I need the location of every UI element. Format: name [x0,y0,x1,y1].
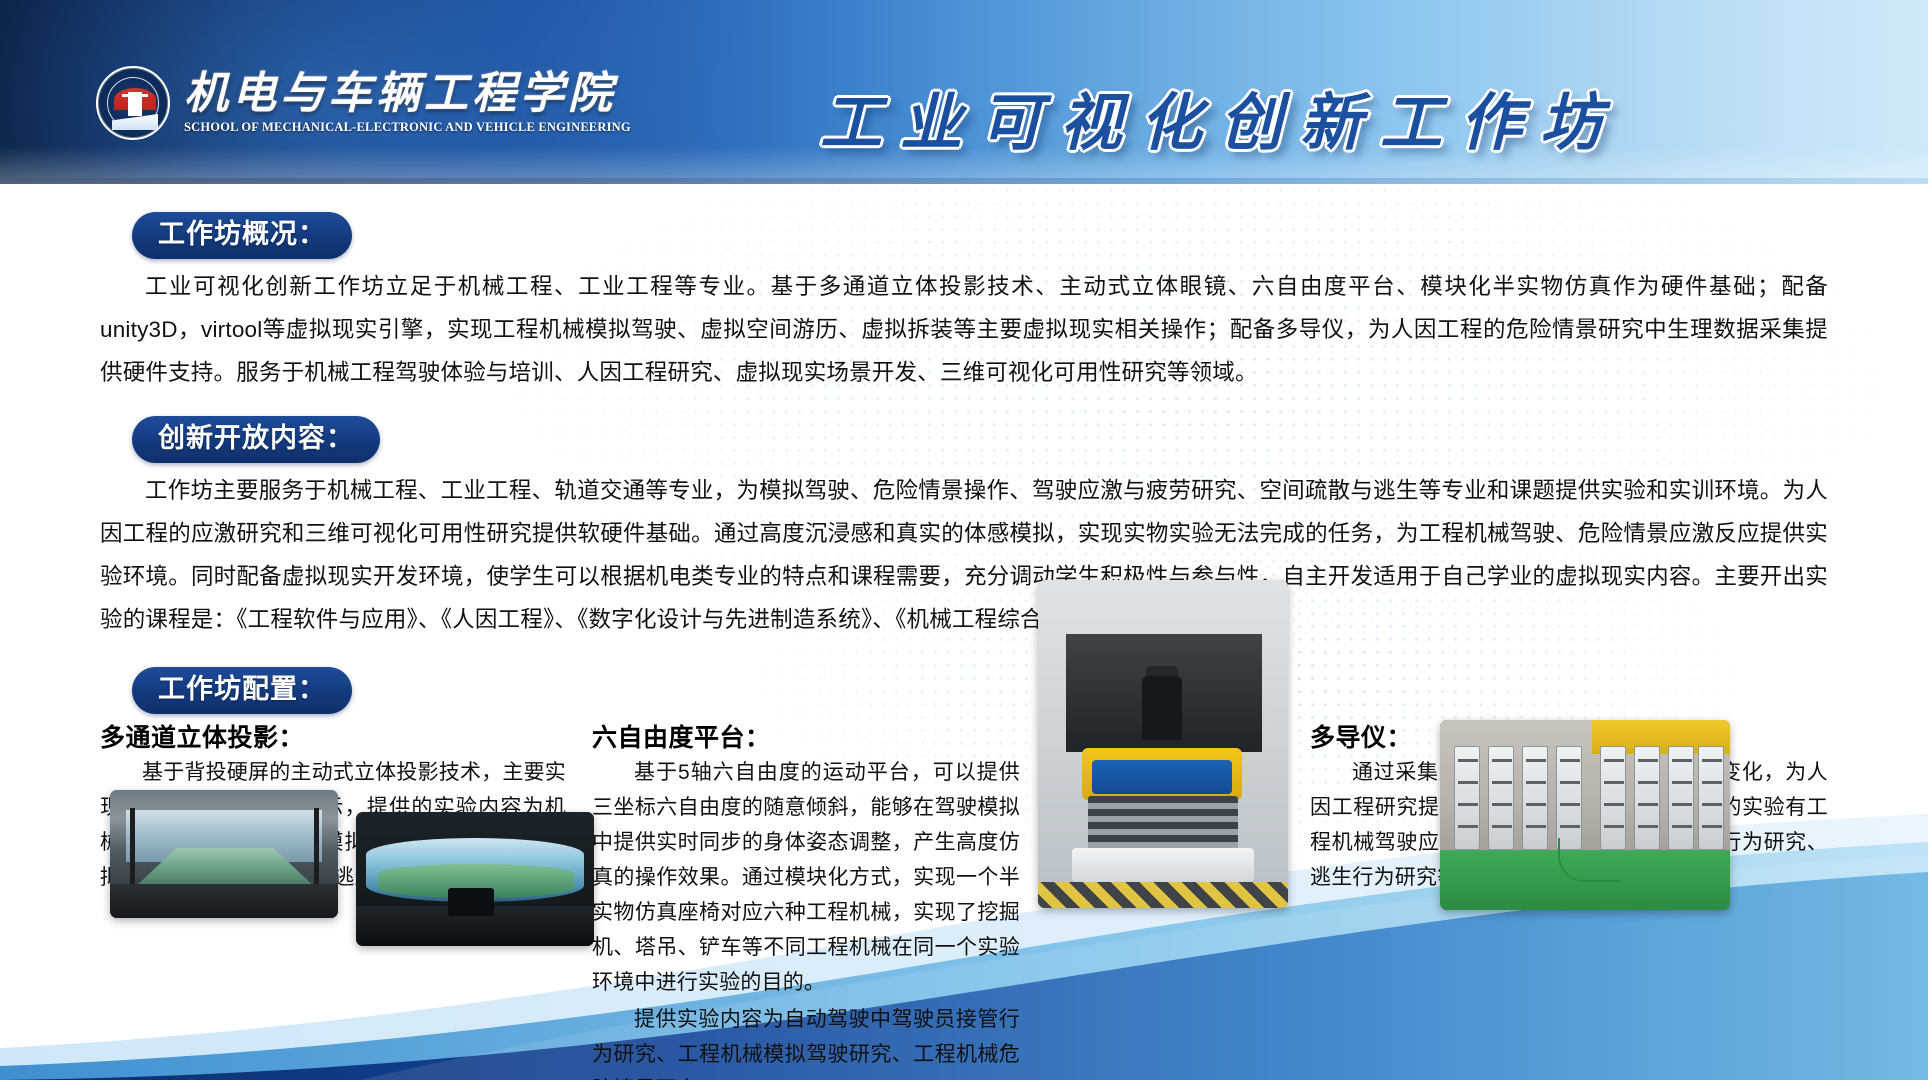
content-area: 工作坊概况： 工业可视化创新工作坊立足于机械工程、工业工程等专业。基于多通道立体… [0,184,1928,1080]
poster-root: 机电与车辆工程学院 SCHOOL OF MECHANICAL-ELECTRONI… [0,0,1928,1080]
header-banner: 机电与车辆工程学院 SCHOOL OF MECHANICAL-ELECTRONI… [0,0,1928,184]
section-innovation-body: 工作坊主要服务于机械工程、工业工程、轨道交通等专业，为模拟驾驶、危险情景操作、驾… [100,469,1828,641]
school-seal-icon [96,66,170,140]
photo-curved-projection-screen [356,812,594,946]
school-name-cn: 机电与车辆工程学院 [184,71,631,117]
config-column-sixdof-paragraph-2: 提供实验内容为自动驾驶中驾驶员接管行为研究、工程机械模拟驾驶研究、工程机械危险情… [592,1002,1020,1080]
section-config-heading: 工作坊配置： [132,667,352,714]
section-overview-heading: 工作坊概况： [132,212,352,259]
section-innovation-heading: 创新开放内容： [132,416,380,463]
config-column-sixdof-paragraph-1: 基于5轴六自由度的运动平台，可以提供三坐标六自由度的随意倾斜，能够在驾驶模拟中提… [592,755,1020,1000]
photo-polygraph-equipment-rack [1440,720,1730,910]
photo-six-dof-motion-platform [1038,580,1288,908]
section-overview-body: 工业可视化创新工作坊立足于机械工程、工业工程等专业。基于多通道立体投影技术、主动… [100,265,1828,394]
poster-body: 工作坊概况： 工业可视化创新工作坊立足于机械工程、工业工程等专业。基于多通道立体… [0,184,1928,1080]
config-column-sixdof-subhead: 六自由度平台： [592,718,1020,754]
page-title: 工业可视化创新工作坊 [820,72,1620,162]
config-column-sixdof: 六自由度平台： 基于5轴六自由度的运动平台，可以提供三坐标六自由度的随意倾斜，能… [592,718,1040,1080]
section-innovation: 创新开放内容： 工作坊主要服务于机械工程、工业工程、轨道交通等专业，为模拟驾驶、… [100,416,1828,641]
school-name-en: SCHOOL OF MECHANICAL-ELECTRONIC AND VEHI… [184,120,631,135]
section-overview: 工作坊概况： 工业可视化创新工作坊立足于机械工程、工业工程等专业。基于多通道立体… [100,212,1828,394]
school-logo-text: 机电与车辆工程学院 SCHOOL OF MECHANICAL-ELECTRONI… [184,71,631,135]
config-column-projection-subhead: 多通道立体投影： [100,718,566,754]
school-logo-block: 机电与车辆工程学院 SCHOOL OF MECHANICAL-ELECTRONI… [96,66,631,140]
photo-multi-channel-projection-room [110,790,338,918]
